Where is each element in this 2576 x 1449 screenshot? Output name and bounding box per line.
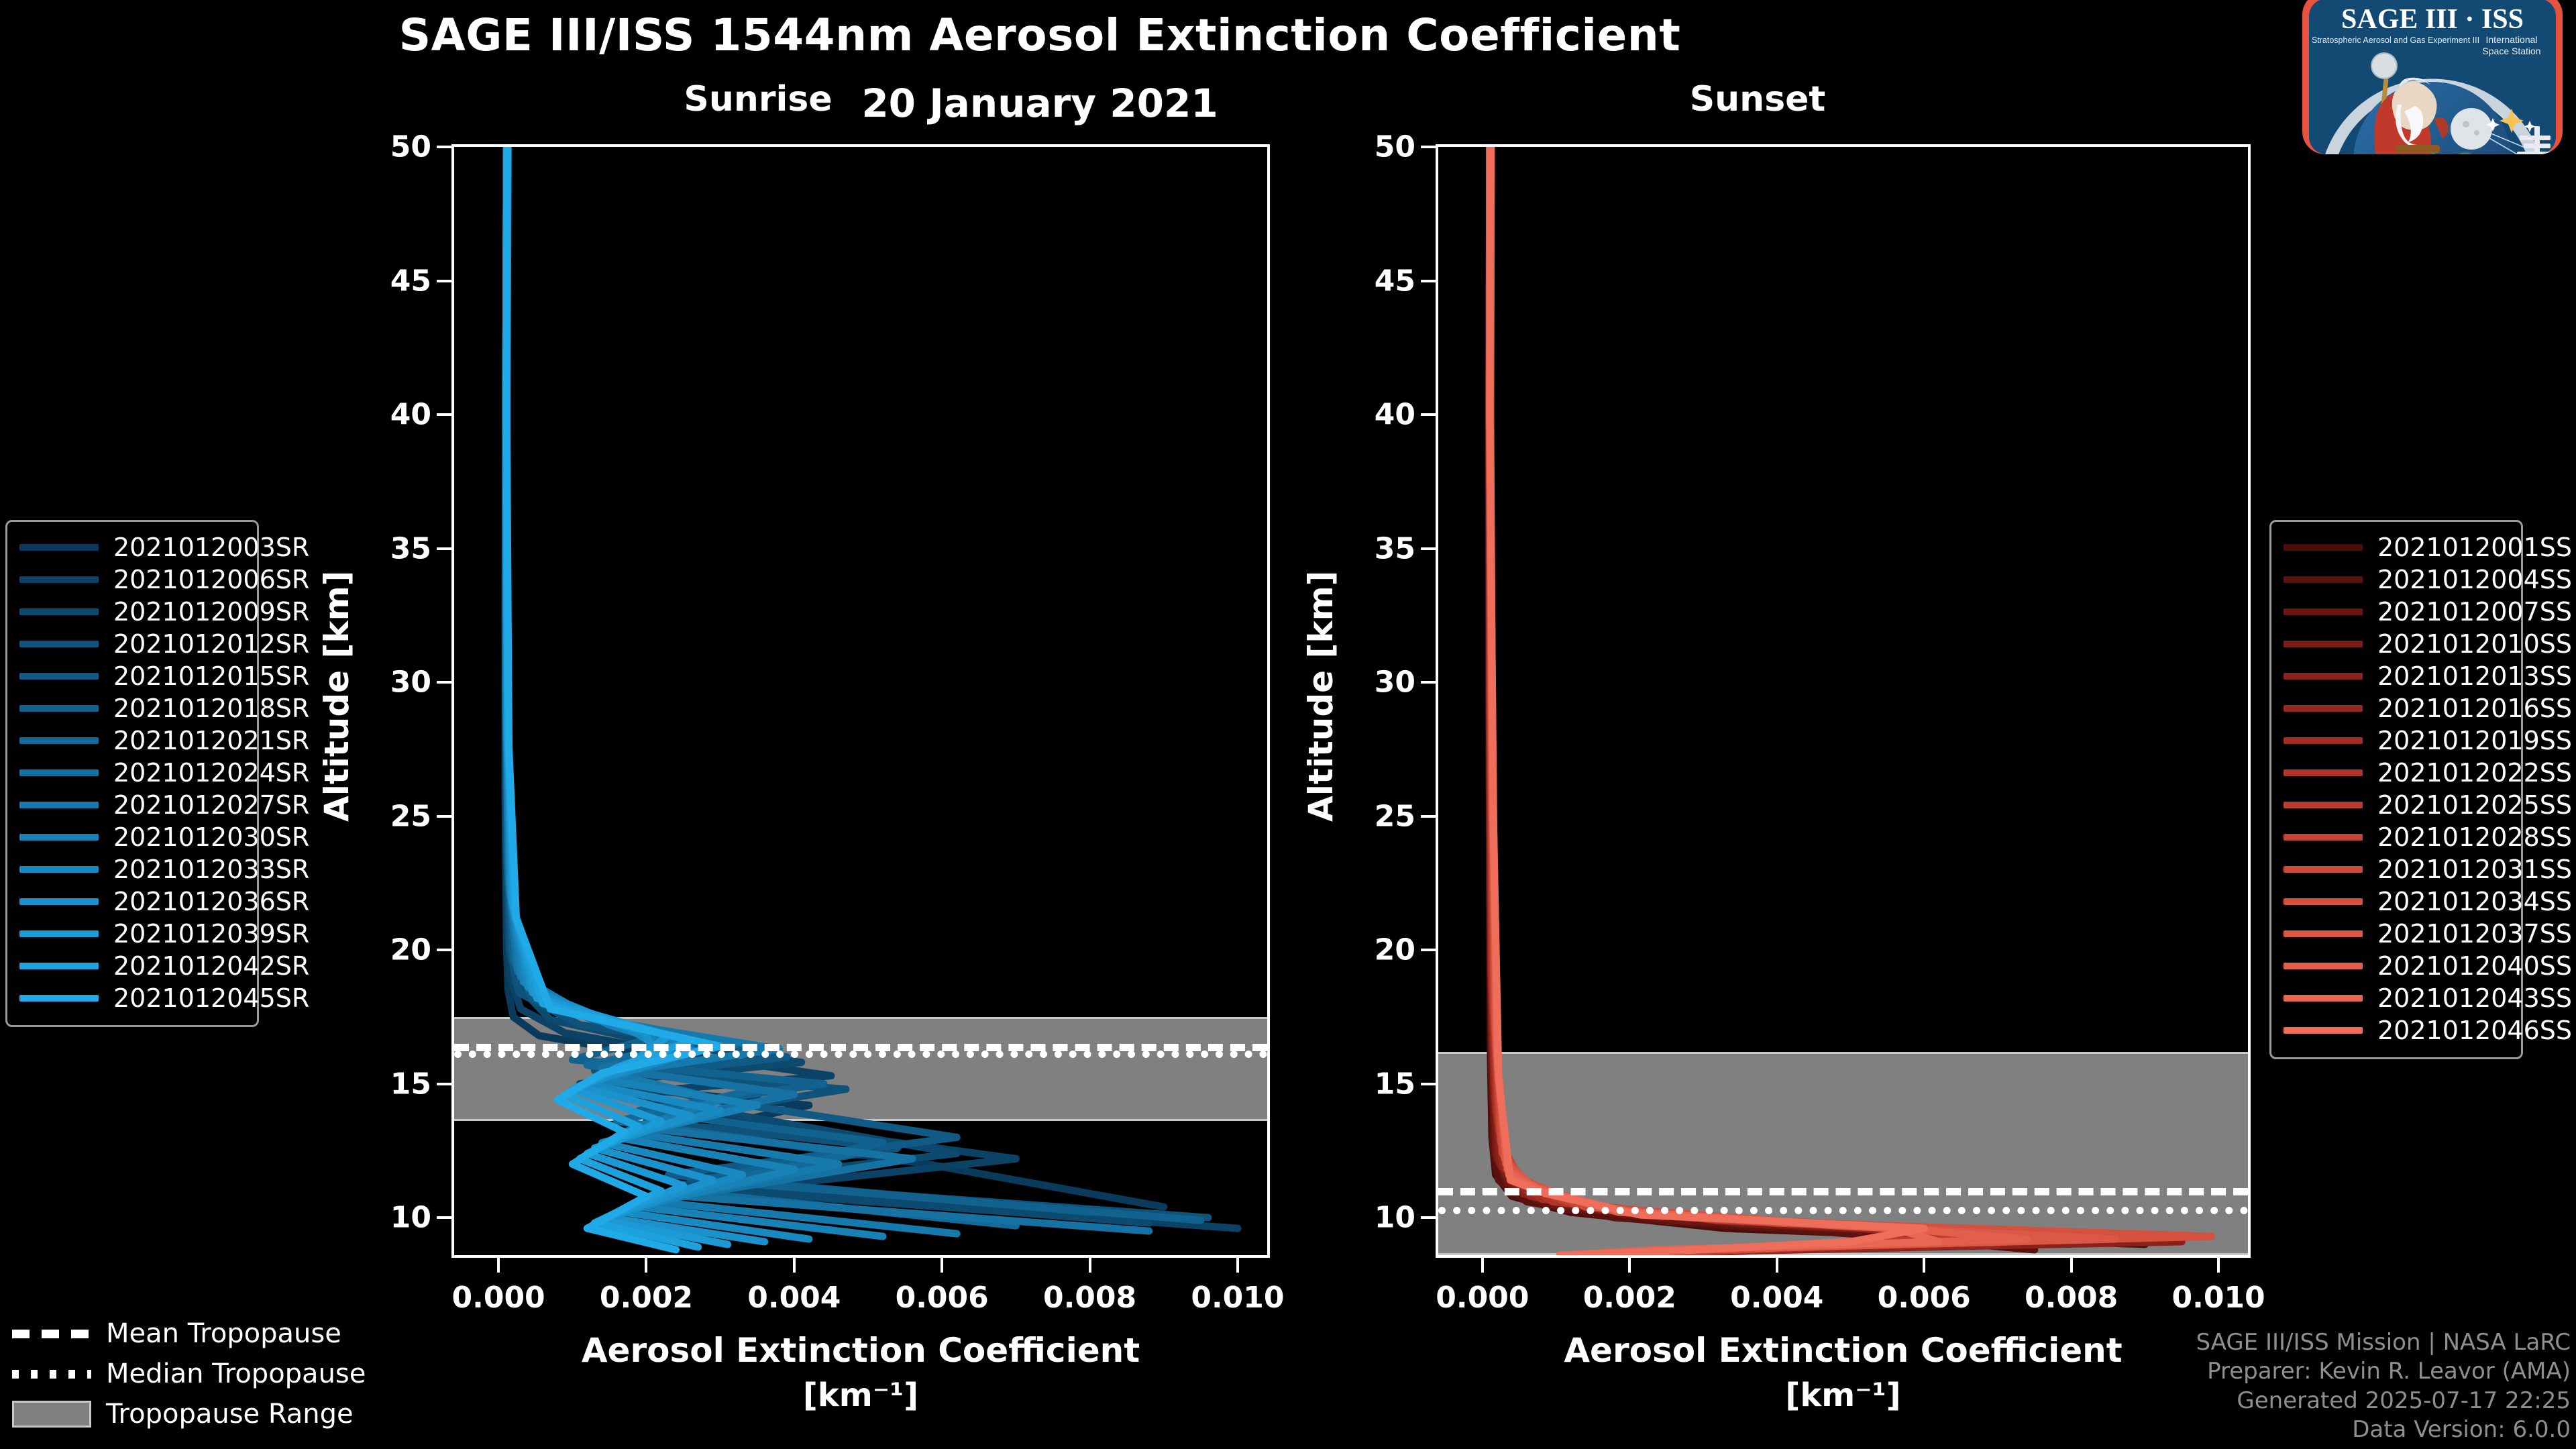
- legend-color-swatch: [19, 769, 99, 776]
- legend-item-label: 2021012046SS: [2377, 1016, 2572, 1045]
- sunset-legend-item[interactable]: 2021012004SS: [2284, 563, 2509, 596]
- y-axis-tick-label: 10: [390, 1201, 431, 1235]
- legend-item-label: 2021012004SS: [2377, 565, 2572, 594]
- legend-color-swatch: [2284, 898, 2363, 905]
- sunrise-x-axis-unit: [km⁻¹]: [451, 1377, 1270, 1414]
- median-tropopause-line: [454, 1051, 1267, 1058]
- series-line: [1490, 147, 2086, 1252]
- sunrise-legend-item[interactable]: 2021012045SR: [19, 982, 245, 1014]
- legend-item-label: 2021012024SR: [113, 758, 309, 788]
- tropopause-legend-label: Tropopause Range: [106, 1399, 354, 1430]
- legend-color-swatch: [2284, 1027, 2363, 1034]
- credit-line: Preparer: Kevin R. Leavor (AMA): [2196, 1357, 2571, 1387]
- tropopause-legend-item: Median Tropopause: [12, 1354, 428, 1394]
- sunrise-legend-item[interactable]: 2021012015SR: [19, 660, 245, 692]
- x-axis-tick-mark: [497, 1258, 500, 1273]
- sunset-legend-item[interactable]: 2021012001SS: [2284, 531, 2509, 563]
- y-axis-tick-label: 40: [390, 398, 431, 432]
- median-tropopause-line: [1438, 1207, 2248, 1214]
- x-axis-tick-mark: [2217, 1258, 2220, 1273]
- legend-color-swatch: [19, 705, 99, 712]
- y-axis-tick-label: 25: [1375, 799, 1415, 833]
- sunrise-legend[interactable]: 2021012003SR2021012006SR2021012009SR2021…: [5, 520, 259, 1027]
- x-axis-tick-label: 0.008: [1043, 1281, 1136, 1315]
- legend-item-label: 2021012013SS: [2377, 661, 2572, 691]
- sunset-legend-item[interactable]: 2021012010SS: [2284, 628, 2509, 660]
- legend-item-label: 2021012022SS: [2377, 758, 2572, 788]
- legend-color-swatch: [19, 866, 99, 873]
- sunrise-legend-item[interactable]: 2021012024SR: [19, 757, 245, 789]
- x-axis-tick-label: 0.000: [452, 1281, 545, 1315]
- sunset-x-axis-label: Aerosol Extinction Coefficient [km⁻¹]: [1436, 1332, 2251, 1414]
- sunrise-legend-item[interactable]: 2021012018SR: [19, 692, 245, 724]
- sunset-legend-item[interactable]: 2021012031SS: [2284, 853, 2509, 885]
- y-axis-tick-mark: [1421, 146, 1436, 148]
- legend-color-swatch: [2284, 995, 2363, 1002]
- dashed-line-icon: [12, 1330, 91, 1338]
- series-line: [1489, 147, 1924, 1255]
- series-line: [1490, 147, 2027, 1255]
- sunset-legend-item[interactable]: 2021012046SS: [2284, 1014, 2509, 1046]
- legend-item-label: 2021012045SR: [113, 983, 309, 1013]
- legend-color-swatch: [19, 963, 99, 969]
- legend-item-label: 2021012027SR: [113, 790, 309, 820]
- y-axis-tick-mark: [437, 547, 451, 550]
- x-axis-tick-mark: [941, 1258, 943, 1273]
- sunset-x-axis-label-text: Aerosol Extinction Coefficient: [1564, 1331, 2122, 1370]
- sunset-legend-item[interactable]: 2021012040SS: [2284, 950, 2509, 982]
- x-axis-tick-label: 0.010: [2172, 1281, 2265, 1315]
- mean-tropopause-line: [1438, 1188, 2248, 1195]
- series-line: [1489, 147, 1983, 1250]
- legend-color-swatch: [2284, 705, 2363, 712]
- legend-color-swatch: [19, 641, 99, 647]
- legend-color-swatch: [2284, 963, 2363, 969]
- sunset-legend[interactable]: 2021012001SS2021012004SS2021012007SS2021…: [2269, 520, 2523, 1059]
- legend-item-label: 2021012006SR: [113, 565, 309, 594]
- y-axis-tick-label: 20: [1375, 933, 1415, 967]
- y-axis-tick-mark: [437, 949, 451, 951]
- tropopause-legend: Mean TropopauseMedian TropopauseTropopau…: [12, 1313, 428, 1434]
- x-axis-tick-mark: [1481, 1258, 1484, 1273]
- sunset-legend-item[interactable]: 2021012037SS: [2284, 918, 2509, 950]
- legend-item-label: 2021012037SS: [2377, 919, 2572, 949]
- y-axis-tick-label: 25: [390, 799, 431, 833]
- y-axis-tick-mark: [1421, 949, 1436, 951]
- series-line: [1489, 147, 2145, 1244]
- y-axis-tick-label: 35: [390, 531, 431, 566]
- sunset-legend-item[interactable]: 2021012022SS: [2284, 757, 2509, 789]
- legend-color-swatch: [19, 576, 99, 583]
- sunset-legend-item[interactable]: 2021012034SS: [2284, 885, 2509, 918]
- legend-color-swatch: [2284, 769, 2363, 776]
- tropopause-legend-item: Tropopause Range: [12, 1394, 428, 1434]
- sage-iii-iss-logo: SAGE III · ISS Stratospheric Aerosol and…: [2298, 0, 2567, 154]
- legend-item-label: 2021012040SS: [2377, 951, 2572, 981]
- legend-color-swatch: [2284, 608, 2363, 615]
- series-line: [1490, 147, 1983, 1255]
- tropopause-legend-label: Mean Tropopause: [106, 1318, 341, 1349]
- x-axis-tick-mark: [1628, 1258, 1631, 1273]
- sunset-legend-item[interactable]: 2021012013SS: [2284, 660, 2509, 692]
- sunrise-series-group: [454, 147, 1267, 1255]
- legend-color-swatch: [2284, 802, 2363, 808]
- range-swatch-icon: [12, 1401, 91, 1428]
- sunrise-y-axis-label: Altitude [km]: [317, 570, 356, 822]
- sunrise-legend-item[interactable]: 2021012021SR: [19, 724, 245, 757]
- tropopause-legend-item: Mean Tropopause: [12, 1313, 428, 1354]
- page-title: SAGE III/ISS 1544nm Aerosol Extinction C…: [0, 9, 2080, 61]
- x-axis-tick-mark: [1089, 1258, 1091, 1273]
- legend-color-swatch: [19, 802, 99, 808]
- legend-item-label: 2021012012SR: [113, 629, 309, 659]
- legend-item-label: 2021012003SR: [113, 533, 309, 562]
- series-line: [1491, 147, 2116, 1255]
- y-axis-tick-mark: [437, 1216, 451, 1219]
- y-axis-tick-label: 45: [390, 264, 431, 298]
- sunset-y-axis-label: Altitude [km]: [1301, 570, 1340, 822]
- legend-item-label: 2021012010SS: [2377, 629, 2572, 659]
- sunset-legend-item[interactable]: 2021012025SS: [2284, 789, 2509, 821]
- x-axis-tick-label: 0.002: [600, 1281, 693, 1315]
- sunset-x-axis-unit: [km⁻¹]: [1436, 1377, 2251, 1414]
- logo-station-text-1: International: [2485, 34, 2537, 45]
- y-axis-tick-label: 50: [1375, 130, 1415, 164]
- dotted-line-icon: [12, 1370, 91, 1379]
- series-line: [506, 147, 1149, 1231]
- legend-color-swatch: [2284, 641, 2363, 647]
- y-axis-tick-mark: [437, 1083, 451, 1085]
- sunset-legend-item[interactable]: 2021012019SS: [2284, 724, 2509, 757]
- sunrise-legend-item[interactable]: 2021012039SR: [19, 918, 245, 950]
- y-axis-tick-mark: [437, 280, 451, 282]
- sunrise-legend-item[interactable]: 2021012036SR: [19, 885, 245, 918]
- x-axis-tick-label: 0.000: [1436, 1281, 1529, 1315]
- legend-item-label: 2021012016SS: [2377, 694, 2572, 723]
- series-line: [1490, 147, 2160, 1255]
- sunrise-legend-item[interactable]: 2021012030SR: [19, 821, 245, 853]
- x-axis-tick-label: 0.006: [896, 1281, 989, 1315]
- sunset-legend-item[interactable]: 2021012007SS: [2284, 596, 2509, 628]
- x-axis-tick-mark: [1923, 1258, 1925, 1273]
- legend-item-label: 2021012033SR: [113, 855, 309, 884]
- legend-color-swatch: [2284, 737, 2363, 744]
- y-axis-tick-label: 30: [390, 665, 431, 700]
- legend-item-label: 2021012018SR: [113, 694, 309, 723]
- series-line: [1489, 147, 2035, 1250]
- y-axis-tick-mark: [1421, 1083, 1436, 1085]
- x-axis-tick-mark: [2070, 1258, 2073, 1273]
- credit-line: SAGE III/ISS Mission | NASA LaRC: [2196, 1328, 2571, 1358]
- credit-line: Data Version: 6.0.0: [2196, 1415, 2571, 1445]
- y-axis-tick-label: 40: [1375, 398, 1415, 432]
- x-axis-tick-label: 0.002: [1583, 1281, 1676, 1315]
- y-axis-tick-label: 50: [390, 130, 431, 164]
- y-axis-tick-label: 30: [1375, 665, 1415, 700]
- y-axis-tick-label: 45: [1375, 264, 1415, 298]
- y-axis-tick-mark: [437, 413, 451, 416]
- y-axis-tick-mark: [1421, 1216, 1436, 1219]
- legend-color-swatch: [2284, 673, 2363, 680]
- y-axis-tick-mark: [1421, 815, 1436, 818]
- sunset-legend-item[interactable]: 2021012043SS: [2284, 982, 2509, 1014]
- series-line: [1490, 147, 1998, 1252]
- legend-color-swatch: [19, 834, 99, 841]
- sunset-legend-item[interactable]: 2021012028SS: [2284, 821, 2509, 853]
- y-axis-tick-label: 15: [1375, 1067, 1415, 1101]
- tropopause-legend-label: Median Tropopause: [106, 1358, 366, 1389]
- legend-item-label: 2021012028SS: [2377, 822, 2572, 852]
- legend-color-swatch: [19, 898, 99, 905]
- legend-color-swatch: [19, 737, 99, 744]
- legend-color-swatch: [19, 608, 99, 615]
- legend-item-label: 2021012015SR: [113, 661, 309, 691]
- y-axis-tick-label: 10: [1375, 1201, 1415, 1235]
- legend-item-label: 2021012043SS: [2377, 983, 2572, 1013]
- sunset-panel-label: Sunset: [1623, 79, 1892, 119]
- sunrise-x-axis-label-text: Aerosol Extinction Coefficient: [582, 1331, 1140, 1370]
- sunrise-legend-item[interactable]: 2021012012SR: [19, 628, 245, 660]
- series-line: [1489, 147, 2182, 1252]
- y-axis-tick-label: 15: [390, 1067, 431, 1101]
- legend-item-label: 2021012030SR: [113, 822, 309, 852]
- y-axis-tick-mark: [1421, 547, 1436, 550]
- y-axis-tick-label: 35: [1375, 531, 1415, 566]
- logo-subtitle-text: Stratospheric Aerosol and Gas Experiment…: [2312, 36, 2479, 45]
- legend-color-swatch: [19, 995, 99, 1002]
- x-axis-tick-mark: [793, 1258, 796, 1273]
- legend-color-swatch: [19, 544, 99, 551]
- legend-item-label: 2021012025SS: [2377, 790, 2572, 820]
- legend-color-swatch: [2284, 834, 2363, 841]
- credits-block: SAGE III/ISS Mission | NASA LaRCPreparer…: [2196, 1328, 2571, 1445]
- legend-item-label: 2021012009SR: [113, 597, 309, 627]
- x-axis-tick-mark: [1236, 1258, 1239, 1273]
- x-axis-tick-label: 0.008: [2025, 1281, 2118, 1315]
- y-axis-tick-label: 20: [390, 933, 431, 967]
- y-axis-tick-mark: [437, 681, 451, 684]
- x-axis-tick-label: 0.004: [747, 1281, 841, 1315]
- sunset-legend-item[interactable]: 2021012016SS: [2284, 692, 2509, 724]
- legend-item-label: 2021012042SR: [113, 951, 309, 981]
- y-axis-tick-mark: [1421, 413, 1436, 416]
- logo-station-text-2: Space Station: [2482, 46, 2540, 56]
- logo-title-text: SAGE III · ISS: [2341, 4, 2524, 35]
- legend-color-swatch: [2284, 930, 2363, 937]
- legend-item-label: 2021012039SR: [113, 919, 309, 949]
- x-axis-tick-label: 0.010: [1191, 1281, 1284, 1315]
- sunrise-legend-item[interactable]: 2021012027SR: [19, 789, 245, 821]
- series-line: [1490, 147, 2042, 1255]
- y-axis-tick-mark: [437, 146, 451, 148]
- sunrise-legend-item[interactable]: 2021012003SR: [19, 531, 245, 563]
- legend-item-label: 2021012019SS: [2377, 726, 2572, 755]
- legend-item-label: 2021012034SS: [2377, 887, 2572, 916]
- x-axis-tick-label: 0.006: [1878, 1281, 1971, 1315]
- legend-color-swatch: [19, 673, 99, 680]
- y-axis-tick-mark: [437, 815, 451, 818]
- x-axis-tick-mark: [645, 1258, 647, 1273]
- legend-item-label: 2021012007SS: [2377, 597, 2572, 627]
- legend-item-label: 2021012031SS: [2377, 855, 2572, 884]
- sunrise-legend-item[interactable]: 2021012033SR: [19, 853, 245, 885]
- legend-color-swatch: [2284, 576, 2363, 583]
- sunrise-legend-item[interactable]: 2021012009SR: [19, 596, 245, 628]
- series-line: [1490, 147, 1924, 1255]
- legend-item-label: 2021012021SR: [113, 726, 309, 755]
- x-axis-tick-label: 0.004: [1730, 1281, 1823, 1315]
- y-axis-tick-mark: [1421, 280, 1436, 282]
- sunset-series-group: [1438, 147, 2248, 1255]
- legend-item-label: 2021012036SR: [113, 887, 309, 916]
- sunrise-legend-item[interactable]: 2021012006SR: [19, 563, 245, 596]
- credit-line: Generated 2025-07-17 22:25: [2196, 1387, 2571, 1416]
- legend-color-swatch: [2284, 866, 2363, 873]
- sunrise-panel-label: Sunrise: [624, 79, 892, 119]
- legend-color-swatch: [2284, 544, 2363, 551]
- series-line: [1490, 147, 1939, 1255]
- legend-item-label: 2021012001SS: [2377, 533, 2572, 562]
- sunrise-x-axis-label: Aerosol Extinction Coefficient [km⁻¹]: [451, 1332, 1270, 1414]
- series-line: [1490, 147, 2211, 1255]
- y-axis-tick-mark: [1421, 681, 1436, 684]
- series-line: [1490, 147, 2101, 1255]
- sunrise-plot-area: [451, 144, 1270, 1258]
- sunset-plot-area: [1436, 144, 2251, 1258]
- x-axis-tick-mark: [1776, 1258, 1778, 1273]
- sunrise-legend-item[interactable]: 2021012042SR: [19, 950, 245, 982]
- legend-color-swatch: [19, 930, 99, 937]
